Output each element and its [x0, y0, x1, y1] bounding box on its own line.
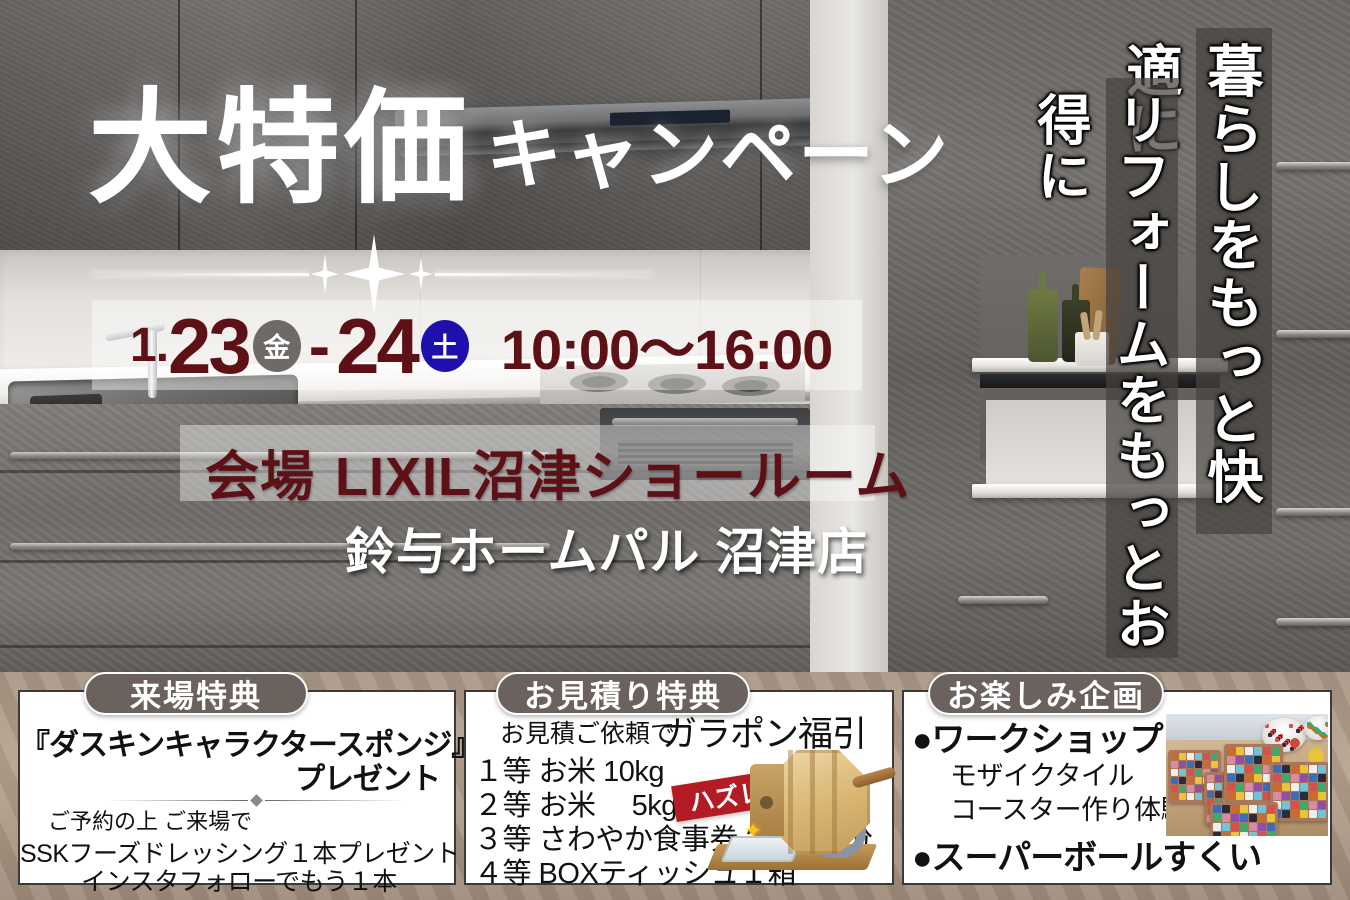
sparkle-icon: ✦: [744, 818, 762, 844]
event-month: 1.: [130, 318, 168, 373]
divider-line-right: [265, 800, 407, 801]
visit-note-instagram: インスタフォローでもう１本: [20, 862, 458, 898]
cabinet-handle: [1276, 618, 1350, 626]
event-day-start: 23: [168, 307, 249, 385]
sparkle-icon: [311, 254, 339, 294]
mosaic-coaster: [1270, 762, 1328, 821]
banner-stage: 大特価 キャンペーン 1. 23 金 - 24 土 10:00〜16:00 会場…: [0, 0, 1350, 900]
weekday-badge-friday: 金: [253, 320, 301, 372]
drum-stripe: [788, 750, 793, 854]
date-range-dash: -: [309, 309, 330, 383]
venue-name: LIXIL沼津ショールーム: [335, 447, 910, 507]
visit-note-reservation: ご予約の上 ご来場で: [48, 804, 252, 836]
panel-visit-title: 来場特典: [84, 672, 308, 715]
venue-label: 会場: [205, 447, 315, 507]
fun-bullet-superball: ●スーパーボールすくい: [912, 830, 1261, 879]
tile-bowl-icon: [1304, 716, 1328, 740]
drum-stripe: [832, 750, 837, 854]
cabinet-handle: [1276, 508, 1350, 516]
panel-fun-activities: お楽しみ企画 ●ワークショップ モザイクタイル コースター作り体験 ●スーパーボ…: [902, 690, 1332, 885]
quote-lead-text: お見積ご依頼で: [500, 714, 675, 750]
headline: 大特価 キャンペーン: [88, 92, 950, 206]
cabinet-handle: [1276, 162, 1350, 170]
panel-fun-title: お楽しみ企画: [928, 672, 1164, 715]
fun-sub-coaster: コースター作り体験: [950, 788, 1187, 827]
event-date-row: 1. 23 金 - 24 土 10:00〜16:00: [130, 305, 832, 386]
divider-line-right: [435, 273, 652, 276]
vertical-copy-right: 暮らしをもっと快適に: [1196, 28, 1272, 534]
divider-line-left: [92, 273, 309, 276]
drawer-line: [0, 645, 810, 648]
panel-quote-benefit: お見積り特典 お見積ご依頼で ガラポン福引 １等 お米 10kg ２等 お米 5…: [464, 690, 894, 885]
cabinet-handle: [1276, 330, 1350, 338]
weekday-badge-saturday: 土: [421, 320, 469, 372]
event-day-end: 24: [336, 307, 417, 385]
drum-knob: [760, 796, 773, 809]
visit-gift-present: プレゼント: [20, 754, 440, 798]
event-time: 10:00〜16:00: [501, 305, 832, 386]
mosaic-coaster: [1210, 802, 1278, 836]
lottery-drum-illustration: ✦: [704, 744, 894, 884]
sparkle-divider: [92, 248, 652, 300]
ball-icon: [1290, 738, 1300, 748]
panel-visit-benefit: 来場特典 『ダスキンキャラクタースポンジ』 プレゼント ご予約の上 ご来場で S…: [18, 690, 456, 885]
headline-sub: キャンペーン: [486, 118, 950, 194]
divider-line-left: [106, 800, 248, 801]
shop-name: 鈴与ホームパル 沼津店: [345, 512, 868, 584]
venue-line: 会場LIXIL沼津ショールーム: [205, 432, 910, 511]
headline-main: 大特価: [88, 92, 472, 206]
drum-stripe: [810, 750, 815, 854]
vertical-copy-left: リフォームをもっとお得に: [1106, 78, 1178, 658]
sparkle-icon: [409, 257, 433, 291]
mosaic-coaster-photo: [1166, 714, 1328, 836]
